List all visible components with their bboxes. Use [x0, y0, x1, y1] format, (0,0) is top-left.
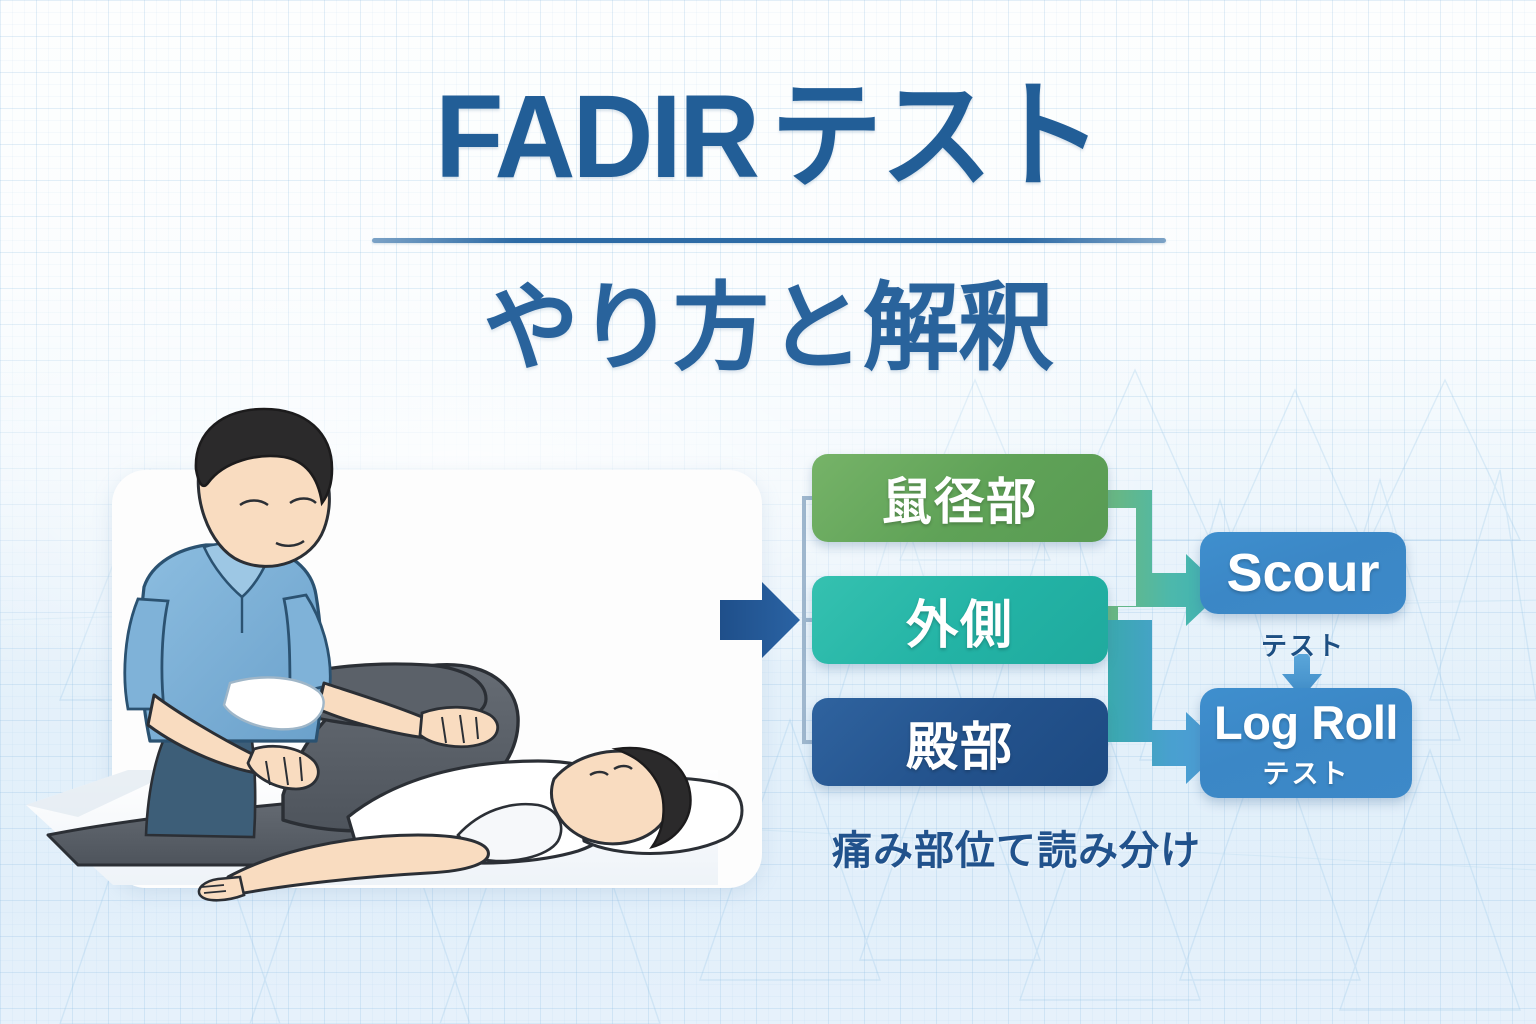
outcome-logroll-test[interactable]: Log Roll テスト [1200, 688, 1412, 798]
pain-site-lateral-label: 外側 [906, 583, 1014, 658]
poster-canvas: FADIRテスト やり方と解釈 [0, 0, 1536, 1024]
pain-site-lateral[interactable]: 外側 [812, 576, 1108, 664]
title-divider [372, 238, 1166, 243]
page-title: FADIRテスト [0, 78, 1536, 196]
pain-site-groin[interactable]: 鼠径部 [812, 454, 1108, 542]
outcome-scour-suffix: テスト [1200, 626, 1406, 663]
outcome-scour-test[interactable]: Scour [1200, 532, 1406, 614]
flow-caption: 痛み部位て読み分け [832, 818, 1201, 876]
title-english: FADIR [435, 71, 757, 203]
split-bracket [804, 498, 812, 742]
outcome-logroll-suffix: テスト [1263, 752, 1350, 791]
pain-site-gluteal[interactable]: 殿部 [812, 698, 1108, 786]
pain-site-gluteal-label: 殿部 [906, 705, 1014, 780]
outcome-logroll-label: Log Roll [1214, 695, 1398, 750]
entry-arrow [720, 582, 800, 658]
pain-site-groin-label: 鼠径部 [882, 462, 1038, 534]
outcome-scour-label: Scour [1226, 542, 1379, 604]
hip-examination-illustration [18, 365, 778, 905]
title-japanese: テスト [770, 71, 1101, 203]
decision-flow-diagram: 鼠径部 外側 殿部 Scour テスト Log Roll テスト 痛み部位て読み… [700, 430, 1440, 860]
